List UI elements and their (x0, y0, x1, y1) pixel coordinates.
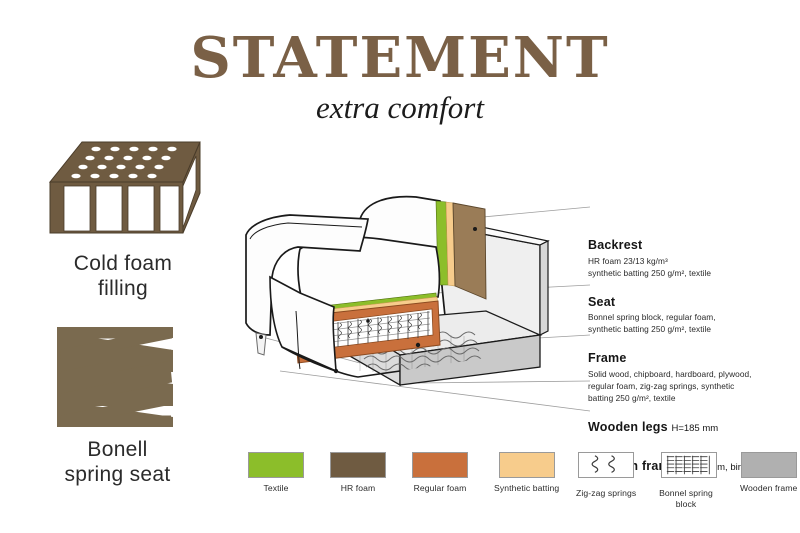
annotation-seat-title: Seat (588, 295, 800, 311)
annotation-wooden-legs-label: Wooden legs (588, 420, 668, 434)
cold-foam-caption-line2: filling (18, 277, 228, 302)
bonnel-spring-block-icon (661, 452, 717, 478)
legend-item-zig-zag-springs: Zig-zag springs (576, 452, 636, 499)
page-subtitle: extra comfort (0, 92, 800, 123)
annotation-frame-line2: regular foam, zig-zag springs, synthetic (588, 380, 800, 392)
legend-item-textile: Textile (248, 452, 304, 494)
legend-label-zig-zag-springs: Zig-zag springs (576, 488, 636, 499)
legend-item-synthetic-batting: Synthetic batting (494, 452, 559, 494)
annotation-frame-line1: Solid wood, chipboard, hardboard, plywoo… (588, 368, 800, 380)
annotation-backrest-line1: HR foam 23/13 kg/m³ (588, 255, 800, 267)
annotation-frame: Frame Solid wood, chipboard, hardboard, … (588, 351, 800, 404)
legend-item-wooden-frame: Wooden frame (740, 452, 797, 494)
material-legend: Textile HR foam Regular foam Synthetic b… (240, 452, 800, 514)
cold-foam-block-icon (40, 138, 225, 248)
legend-item-regular-foam: Regular foam (412, 452, 468, 494)
annotation-seat: Seat Bonnel spring block, regular foam, … (588, 295, 800, 336)
legend-label-textile: Textile (248, 483, 304, 494)
legend-swatch-hr-foam (330, 452, 386, 478)
annotation-wooden-legs-title: Wooden legs H=185 mm (588, 420, 800, 436)
sofa-cutaway-illustration (240, 185, 590, 420)
annotation-backrest-body: HR foam 23/13 kg/m³ synthetic batting 25… (588, 255, 800, 279)
bonell-spring-icon (55, 325, 180, 430)
annotation-seat-line2: synthetic batting 250 g/m², textile (588, 323, 800, 335)
page-title: STATEMENT (0, 30, 800, 86)
annotation-frame-line3: batting 250 g/m², textile (588, 392, 800, 404)
legend-label-regular-foam: Regular foam (412, 483, 468, 494)
cold-foam-caption: Cold foam filling (18, 252, 228, 302)
legend-label-bonnel-spring-block: Bonnel spring block (653, 488, 719, 510)
spacer (588, 288, 800, 295)
annotation-wooden-legs: Wooden legs H=185 mm (588, 420, 800, 436)
annotation-list: Backrest HR foam 23/13 kg/m³ synthetic b… (588, 238, 800, 483)
spacer (588, 413, 800, 420)
annotation-seat-body: Bonnel spring block, regular foam, synth… (588, 311, 800, 335)
legend-swatch-synthetic-batting (499, 452, 555, 478)
bonell-spring-caption-line2: spring seat (10, 463, 225, 488)
annotation-backrest-line2: synthetic batting 250 g/m², textile (588, 267, 800, 279)
annotation-backrest-title: Backrest (588, 238, 800, 254)
bonell-spring-caption: Bonell spring seat (10, 438, 225, 488)
legend-label-wooden-frame: Wooden frame (740, 483, 797, 494)
infographic-canvas: STATEMENT extra comfort (0, 0, 800, 533)
annotation-seat-line1: Bonnel spring block, regular foam, (588, 311, 800, 323)
annotation-backrest: Backrest HR foam 23/13 kg/m³ synthetic b… (588, 238, 800, 279)
bonell-spring-caption-line1: Bonell (10, 438, 225, 463)
annotation-frame-title: Frame (588, 351, 800, 367)
legend-item-bonnel-spring-block: Bonnel spring block (658, 452, 719, 510)
legend-swatch-regular-foam (412, 452, 468, 478)
spacer (588, 344, 800, 351)
annotation-wooden-legs-spec: H=185 mm (671, 423, 718, 434)
spacer (588, 445, 800, 452)
legend-label-synthetic-batting: Synthetic batting (494, 483, 559, 494)
legend-label-hr-foam: HR foam (330, 483, 386, 494)
zig-zag-springs-icon (578, 452, 634, 478)
legend-swatch-wooden-frame (741, 452, 797, 478)
annotation-frame-body: Solid wood, chipboard, hardboard, plywoo… (588, 368, 800, 404)
legend-swatch-textile (248, 452, 304, 478)
legend-item-hr-foam: HR foam (330, 452, 386, 494)
cold-foam-caption-line1: Cold foam (18, 252, 228, 277)
